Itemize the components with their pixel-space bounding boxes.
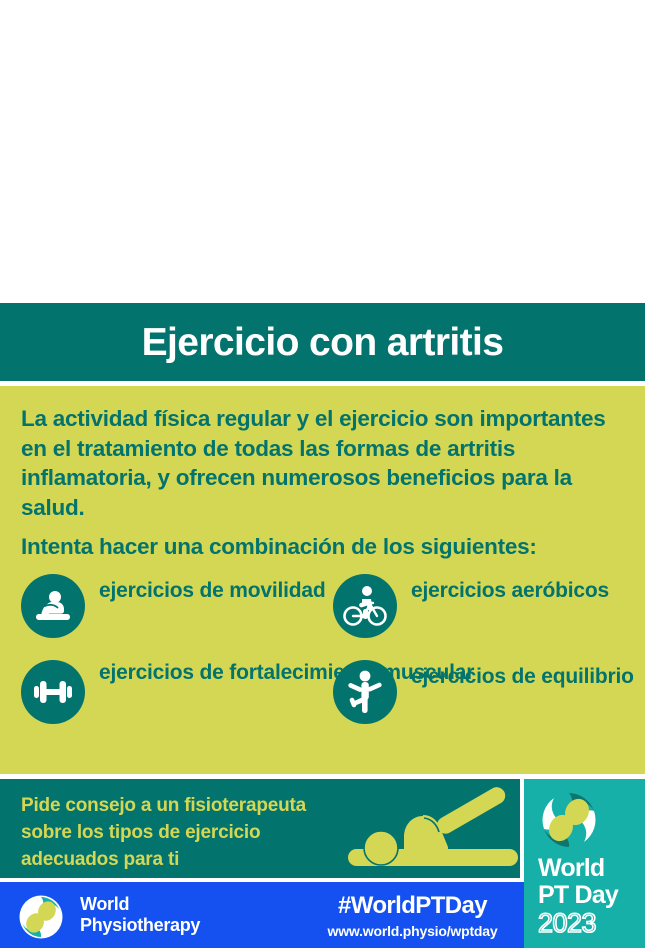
poster-root: Ejercicio con artritis La actividad físi…	[0, 0, 645, 948]
badge-year: 2023	[538, 910, 596, 937]
exercise-label: ejercicios aeróbicos	[411, 574, 609, 605]
website-url[interactable]: www.world.physio/wptday	[310, 924, 515, 938]
world-physiotherapy-emblem-icon	[18, 894, 64, 945]
exercise-item-balance[interactable]: ejercicios de equilibrio	[333, 660, 634, 724]
title-band: Ejercicio con artritis	[0, 303, 645, 381]
subheading: Intenta hacer una combinación de los sig…	[21, 532, 631, 561]
advice-text: Pide consejo a un fisioterapeuta sobre l…	[21, 793, 351, 874]
world-physiotherapy-emblem-icon	[538, 789, 600, 856]
badge-line2: PT Day	[538, 883, 618, 908]
badge-line1: World	[538, 856, 604, 881]
page-title: Ejercicio con artritis	[142, 323, 504, 362]
hashtag: #WorldPTDay	[310, 894, 515, 918]
organisation-name-line1: World	[80, 894, 200, 915]
dumbbell-icon	[21, 660, 85, 724]
top-blank-area	[0, 0, 645, 303]
organisation-name-line2: Physiotherapy	[80, 915, 200, 936]
exercise-label: ejercicios de movilidad	[99, 574, 326, 605]
exercise-item-mobility[interactable]: ejercicios de movilidad	[21, 574, 326, 638]
advice-strip: Pide consejo a un fisioterapeuta sobre l…	[0, 779, 520, 878]
footer-bar: World Physiotherapy #WorldPTDay www.worl…	[0, 882, 524, 948]
intro-paragraph: La actividad física regular y el ejercic…	[21, 404, 621, 523]
lying-person-stretch-icon	[344, 785, 520, 876]
main-content-panel: La actividad física regular y el ejercic…	[0, 386, 645, 774]
exercise-icon-grid: ejercicios de movilidad	[0, 574, 645, 770]
balance-person-icon	[333, 660, 397, 724]
exercise-label: ejercicios de equilibrio	[411, 660, 634, 691]
exercise-item-aerobic[interactable]: ejercicios aeróbicos	[333, 574, 609, 638]
organisation-name: World Physiotherapy	[80, 894, 200, 936]
cyclist-icon	[333, 574, 397, 638]
world-pt-day-badge: World PT Day 2023	[524, 779, 645, 948]
stretching-person-icon	[21, 574, 85, 638]
